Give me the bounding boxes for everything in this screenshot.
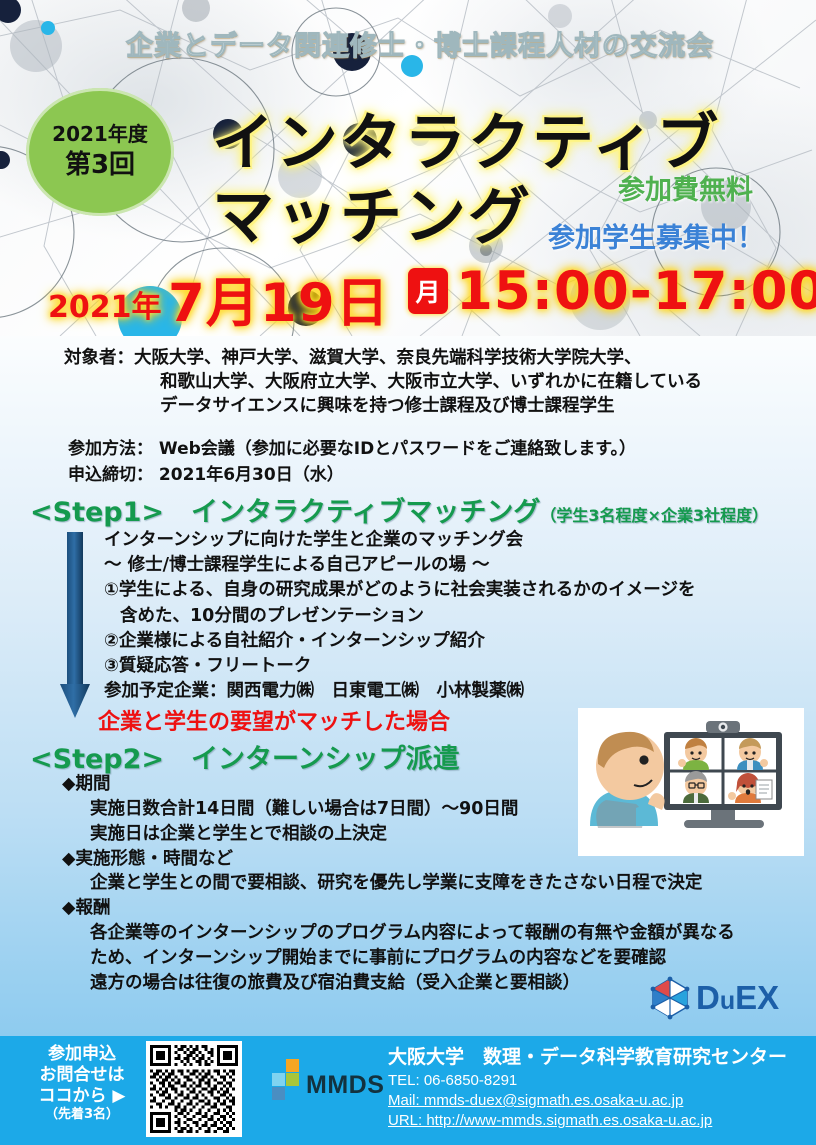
step1-line-2: ～ 修士/博士課程学生による自己アピールの場 ～ [104, 553, 664, 578]
step1-line-4: 含めた、10分間のプレゼンテーション [104, 604, 664, 629]
event-date: 7月19日 [168, 261, 390, 336]
badge-edition: 第3回 [65, 150, 135, 181]
step2-heading: <Step2> インターンシップ派遣 [30, 737, 460, 776]
event-year: 2021年 [48, 282, 162, 326]
contact-info: 大阪大学 数理・データ科学教育研究センター TEL: 06-6850-8291 … [388, 1042, 808, 1129]
video-conference-illustration [578, 708, 804, 856]
step2-s3-line-1: 各企業等のインターンシップのプログラム内容によって報酬の有無や金額が異なる [62, 921, 802, 946]
center-name: 大阪大学 数理・データ科学教育研究センター [388, 1042, 808, 1069]
step1-line-3: ①学生による、自身の研究成果がどのように社会実装されるかのイメージを [104, 578, 664, 603]
hero-banner: 企業とデータ関連修士・博士課程人材の交流会 2021年度 第3回 インタラクティ… [0, 0, 816, 336]
event-day-of-week-badge: 月 [408, 268, 448, 314]
down-arrow-icon [58, 532, 92, 720]
apply-line-3: ココから ▶ [26, 1086, 138, 1107]
apply-line-1: 参加申込 [26, 1044, 138, 1065]
event-series-heading: 企業とデータ関連修士・博士課程人材の交流会 [70, 24, 770, 63]
step1-line-1: インターンシップに向けた学生と企業のマッチング会 [104, 528, 664, 553]
badge-year: 2021年度 [52, 123, 148, 147]
step1-heading-main: <Step1> インタラクティブマッチング [30, 497, 540, 528]
target-audience-line-1: 大阪大学、神戸大学、滋賀大学、奈良先端科学技術大学院大学、 [134, 348, 642, 368]
target-audience-label: 対象者： [64, 346, 134, 370]
step1-line-7: 参加予定企業：関西電力㈱ 日東電工㈱ 小林製薬㈱ [104, 679, 664, 704]
mmds-mark-icon [268, 1059, 304, 1105]
participation-method: 参加方法： Web会議（参加に必要なIDとパスワードをご連絡致します。） [68, 434, 636, 459]
duex-letter-u: u [720, 987, 735, 1015]
match-condition-note: 企業と学生の要望がマッチした場合 [98, 704, 450, 736]
step1-line-6: ③質疑応答・フリートーク [104, 654, 664, 679]
duex-letter-d: D [696, 979, 720, 1016]
mmds-logo: MMDS [268, 1055, 376, 1113]
step1-line-5: ②企業様による自社紹介・インターンシップ紹介 [104, 629, 664, 654]
apply-line-4: （先着3名） [26, 1107, 138, 1123]
application-deadline: 申込締切： 2021年6月30日（水） [68, 460, 344, 485]
duex-wordmark: DuEX [696, 979, 779, 1017]
poster-title-line2: マッチング [212, 166, 532, 256]
poster-root: 企業とデータ関連修士・博士課程人材の交流会 2021年度 第3回 インタラクティ… [0, 0, 816, 1145]
target-audience-line-3: データサイエンスに興味を持つ修士課程及び博士課程学生 [64, 394, 804, 418]
mmds-wordmark: MMDS [306, 1071, 384, 1100]
step1-details: インターンシップに向けた学生と企業のマッチング会 ～ 修士/博士課程学生による自… [104, 528, 664, 704]
step1-heading: <Step1> インタラクティブマッチング（学生3名程度×企業3社程度） [30, 490, 768, 529]
qr-code[interactable] [146, 1041, 242, 1137]
step2-s3-line-2: ため、インターンシップ開始までに事前にプログラムの内容などを要確認 [62, 946, 802, 971]
step2-s2-line-1: 企業と学生との間で要相談、研究を優先し学業に支障をきたさない日程で決定 [62, 871, 802, 896]
free-admission-label: 参加費無料 [618, 168, 753, 207]
application-callout: 参加申込 お問合せは ココから ▶ （先着3名） [26, 1044, 138, 1123]
target-audience-block: 対象者：大阪大学、神戸大学、滋賀大学、奈良先端科学技術大学院大学、 和歌山大学、… [64, 346, 804, 418]
duex-logo: DuEX [648, 975, 808, 1021]
step1-heading-sub: （学生3名程度×企業3社程度） [540, 506, 768, 525]
event-time: 15:00-17:00 [456, 261, 816, 322]
step2-bullet-3: ◆報酬 [62, 896, 802, 921]
target-audience-line-2: 和歌山大学、大阪府立大学、大阪市立大学、いずれかに在籍している [64, 370, 804, 394]
contact-tel: TEL: 06-6850-8291 [388, 1072, 808, 1089]
contact-url[interactable]: URL: http://www-mmds.sigmath.es.osaka-u.… [388, 1112, 808, 1129]
student-recruitment-label: 参加学生募集中！ [548, 216, 764, 255]
duex-mark-icon [648, 976, 692, 1020]
duex-letters-ex: EX [735, 979, 779, 1016]
edition-badge: 2021年度 第3回 [26, 88, 174, 216]
apply-line-2: お問合せは [26, 1065, 138, 1086]
contact-mail[interactable]: Mail: mmds-duex@sigmath.es.osaka-u.ac.jp [388, 1092, 808, 1109]
